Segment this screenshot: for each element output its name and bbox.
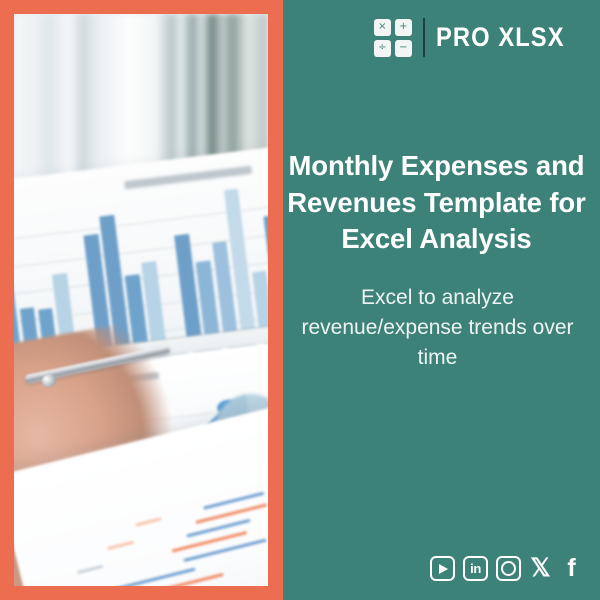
brand-name: PRO XLSX bbox=[436, 22, 565, 53]
brand-logo[interactable]: × + ÷ − PRO XLSX bbox=[374, 18, 582, 57]
content-panel: × + ÷ − PRO XLSX Monthly Expenses and Re… bbox=[283, 0, 600, 600]
linkedin-icon[interactable]: in bbox=[463, 556, 488, 581]
instagram-icon[interactable] bbox=[496, 556, 521, 581]
x-twitter-icon[interactable]: 𝕏 bbox=[529, 555, 552, 582]
calculator-icon: × + ÷ − bbox=[374, 19, 412, 57]
plus-key: + bbox=[395, 19, 412, 36]
youtube-icon[interactable] bbox=[430, 556, 455, 581]
instagram-ring-icon bbox=[501, 561, 516, 576]
linkedin-label: in bbox=[470, 561, 481, 576]
photo-frame bbox=[0, 0, 283, 600]
divide-key: ÷ bbox=[374, 40, 391, 57]
multiply-key: × bbox=[374, 19, 391, 36]
business-income-title bbox=[124, 165, 252, 189]
office-photo bbox=[14, 14, 268, 586]
facebook-icon[interactable]: f bbox=[560, 555, 583, 582]
brand-divider bbox=[423, 18, 425, 57]
social-links: in 𝕏 f bbox=[430, 555, 583, 582]
play-triangle-icon bbox=[439, 564, 448, 574]
promo-card: × + ÷ − PRO XLSX Monthly Expenses and Re… bbox=[0, 0, 600, 600]
page-subtitle: Excel to analyze revenue/expense trends … bbox=[295, 283, 580, 373]
page-title: Monthly Expenses and Revenues Template f… bbox=[287, 148, 586, 258]
minus-key: − bbox=[395, 40, 412, 57]
